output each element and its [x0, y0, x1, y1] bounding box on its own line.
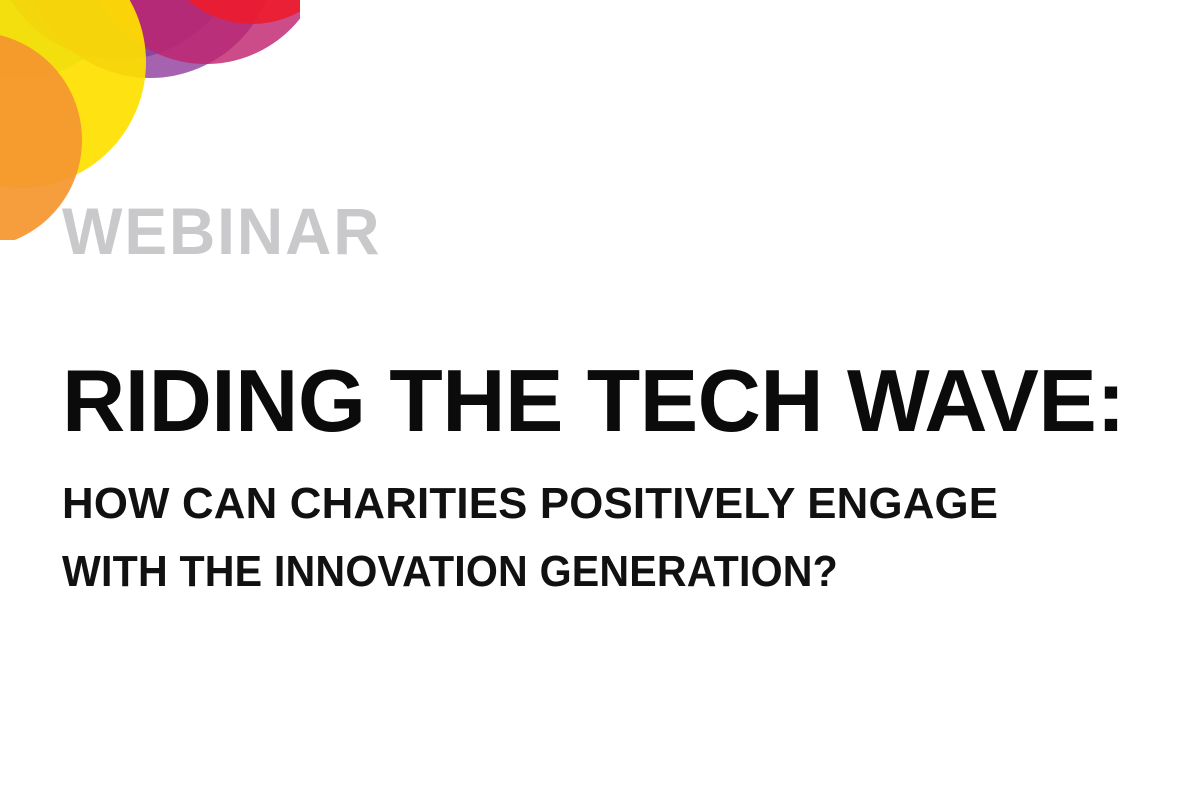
logo-circle-indigo: [0, 0, 244, 60]
eyebrow-label: WEBINAR: [62, 198, 381, 264]
logo-circle-teal: [0, 0, 130, 78]
logo-circle-yellow: [0, 0, 146, 188]
logo-circle-purple: [24, 0, 276, 78]
subtitle-line-1: HOW CAN CHARITIES POSITIVELY ENGAGE: [62, 482, 998, 526]
page-title: RIDING THE TECH WAVE:: [62, 358, 1125, 444]
logo-circle-red: [154, 0, 300, 24]
subtitle-line-2: WITH THE INNOVATION GENERATION?: [62, 550, 838, 594]
logo-circle-magenta: [86, 0, 300, 64]
webinar-title-slide: WEBINAR RIDING THE TECH WAVE: HOW CAN CH…: [0, 0, 1200, 800]
